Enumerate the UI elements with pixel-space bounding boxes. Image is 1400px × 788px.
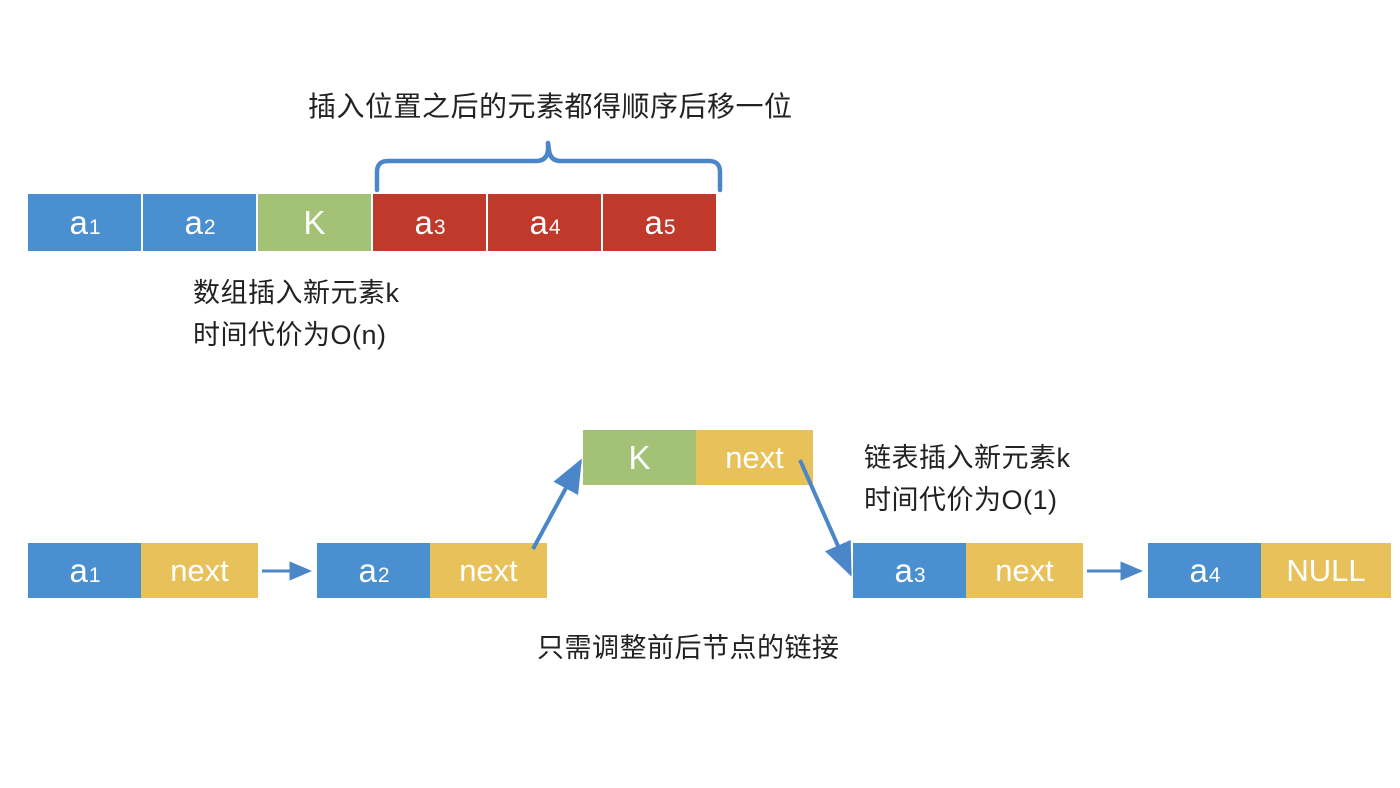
diagram-canvas: 插入位置之后的元素都得顺序后移一位 a1 a2 K a3 a4 a5 数组插入新… bbox=[0, 0, 1400, 788]
array-cell-2-new-element: K bbox=[258, 194, 371, 251]
list-node-2-sub: 3 bbox=[914, 564, 926, 588]
list-node-1-base: a bbox=[358, 552, 376, 590]
array-cell-4-base: a bbox=[529, 204, 547, 242]
list-node-0: a1 next bbox=[28, 543, 258, 598]
array-shift-brace bbox=[377, 143, 720, 190]
list-node-3-value: a4 bbox=[1148, 543, 1261, 598]
list-node-new-k-base: K bbox=[628, 439, 650, 477]
list-node-2: a3 next bbox=[853, 543, 1083, 598]
list-node-2-base: a bbox=[894, 552, 912, 590]
list-node-0-next: next bbox=[141, 543, 258, 598]
list-node-new-k-value: K bbox=[583, 430, 696, 485]
array-cell-5-base: a bbox=[644, 204, 662, 242]
list-node-0-base: a bbox=[69, 552, 87, 590]
list-node-new-k: K next bbox=[583, 430, 813, 485]
list-note-line-2: 时间代价为O(1) bbox=[864, 479, 1058, 521]
array-cell-5: a5 bbox=[603, 194, 716, 251]
array-cell-4: a4 bbox=[488, 194, 601, 251]
array-cell-5-sub: 5 bbox=[664, 216, 676, 240]
array-cell-1-base: a bbox=[184, 204, 202, 242]
array-row: a1 a2 K a3 a4 a5 bbox=[28, 194, 716, 251]
list-note-line-1: 链表插入新元素k bbox=[864, 437, 1071, 479]
array-cell-1: a2 bbox=[143, 194, 256, 251]
array-note-line-1: 数组插入新元素k bbox=[193, 272, 400, 314]
array-cell-0-sub: 1 bbox=[89, 216, 101, 240]
list-node-2-next: next bbox=[966, 543, 1083, 598]
array-cell-2-base: K bbox=[303, 204, 325, 242]
array-cell-0-base: a bbox=[69, 204, 87, 242]
array-cell-4-sub: 4 bbox=[549, 216, 561, 240]
array-cell-3-sub: 3 bbox=[434, 216, 446, 240]
arrow-node1-to-new-node bbox=[533, 462, 580, 549]
array-cell-3: a3 bbox=[373, 194, 486, 251]
list-node-0-value: a1 bbox=[28, 543, 141, 598]
list-node-3-sub: 4 bbox=[1209, 564, 1221, 588]
array-note-line-2: 时间代价为O(n) bbox=[193, 314, 387, 356]
array-top-caption: 插入位置之后的元素都得顺序后移一位 bbox=[308, 86, 793, 128]
list-node-3-next: NULL bbox=[1261, 543, 1391, 598]
list-bottom-caption: 只需调整前后节点的链接 bbox=[537, 627, 840, 669]
list-node-1-sub: 2 bbox=[378, 564, 390, 588]
array-cell-0: a1 bbox=[28, 194, 141, 251]
list-node-new-k-next: next bbox=[696, 430, 813, 485]
array-cell-1-sub: 2 bbox=[204, 216, 216, 240]
list-node-3: a4 NULL bbox=[1148, 543, 1391, 598]
list-node-3-base: a bbox=[1189, 552, 1207, 590]
list-node-1: a2 next bbox=[317, 543, 547, 598]
list-node-1-next: next bbox=[430, 543, 547, 598]
list-node-0-sub: 1 bbox=[89, 564, 101, 588]
array-cell-3-base: a bbox=[414, 204, 432, 242]
list-node-2-value: a3 bbox=[853, 543, 966, 598]
list-node-1-value: a2 bbox=[317, 543, 430, 598]
